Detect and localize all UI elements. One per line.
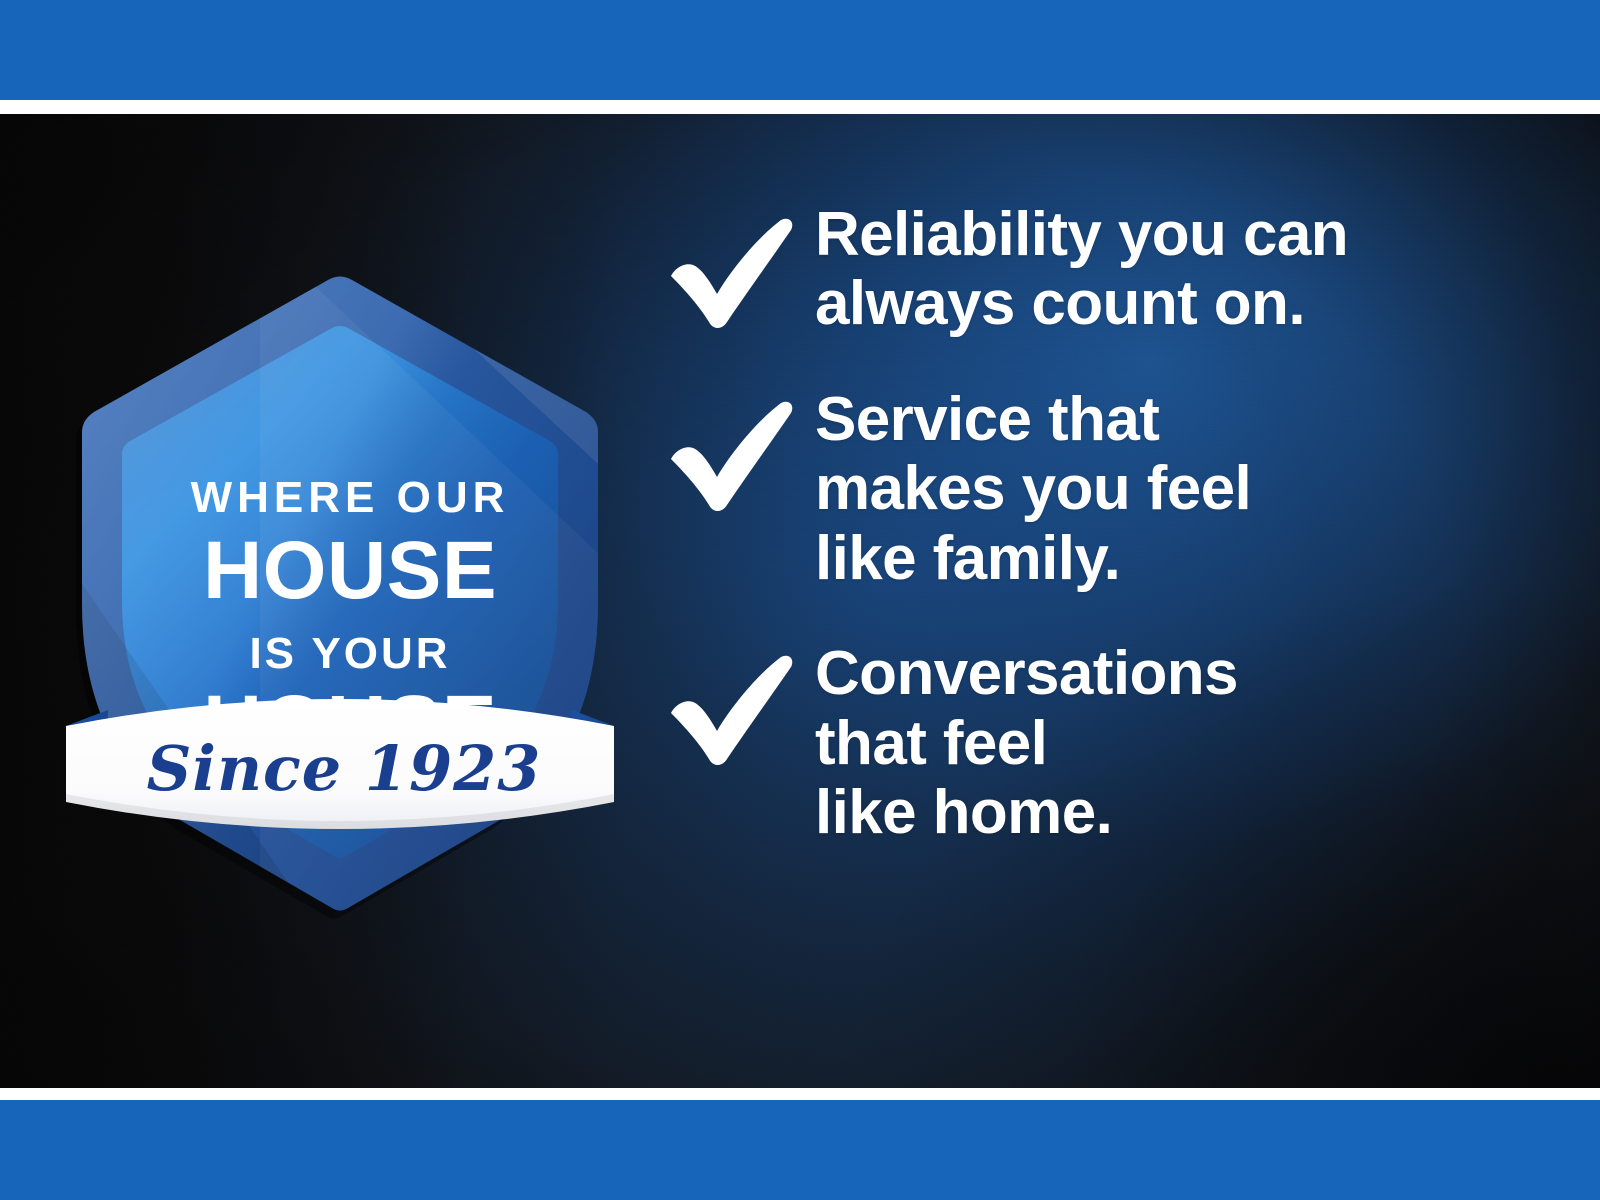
benefit-item-1: Reliability you can always count on. (665, 200, 1545, 339)
top-brand-bar (0, 0, 1600, 100)
benefit-text-1: Reliability you can always count on. (815, 200, 1545, 339)
promo-graphic: WHERE OUR HOUSE IS YOUR HOUSE Since 1923 (0, 0, 1600, 1200)
benefit-text-3: Conversations that feel like home. (815, 639, 1545, 847)
checkmark-icon (665, 401, 797, 513)
checkmark-icon-wrap-1 (665, 200, 815, 330)
benefit-item-2: Service that makes you feel like family. (665, 385, 1545, 593)
main-canvas: WHERE OUR HOUSE IS YOUR HOUSE Since 1923 (0, 114, 1600, 1088)
badge-line-1: WHERE OUR (191, 473, 510, 522)
badge-line-2: HOUSE (203, 525, 497, 616)
benefit-item-3: Conversations that feel like home. (665, 639, 1545, 847)
bottom-brand-bar (0, 1100, 1600, 1200)
checkmark-icon (665, 655, 797, 767)
shield-badge: WHERE OUR HOUSE IS YOUR HOUSE Since 1923 (60, 274, 620, 914)
checkmark-icon-wrap-3 (665, 639, 815, 767)
benefits-list: Reliability you can always count on. Ser… (665, 200, 1545, 848)
ribbon-script-text: Since 1923 (147, 732, 542, 805)
badge-line-3: IS YOUR (249, 629, 450, 678)
checkmark-icon (665, 218, 797, 330)
checkmark-icon-wrap-2 (665, 385, 815, 513)
benefit-text-2: Service that makes you feel like family. (815, 385, 1545, 593)
